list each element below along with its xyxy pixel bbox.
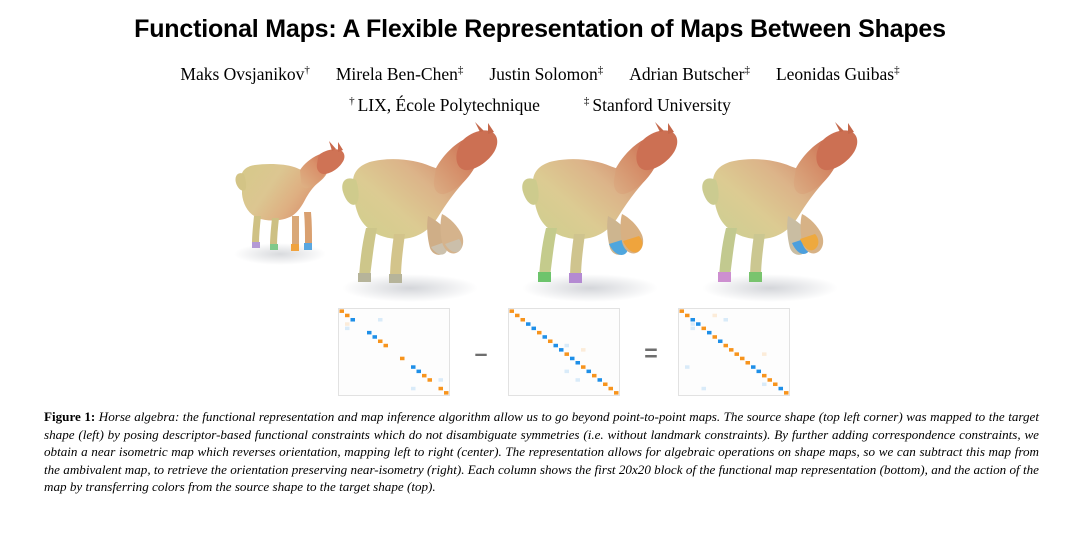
matrix-cell — [439, 378, 444, 382]
affiliation-name: Stanford University — [592, 95, 731, 115]
matrix-cell — [581, 365, 586, 369]
matrix-cell — [564, 370, 569, 374]
author-name: Justin Solomon — [489, 64, 597, 84]
author-affiliation-mark: ‡ — [744, 64, 750, 76]
matrix-cell — [729, 348, 734, 352]
author-2: Mirela Ben-Chen‡ — [336, 63, 463, 85]
minus-operator: – — [468, 346, 494, 360]
matrix-cell — [521, 318, 526, 322]
author-name: Mirela Ben-Chen — [336, 64, 458, 84]
matrix-cell — [762, 352, 767, 356]
matrix-cell — [691, 322, 696, 326]
matrix-cell — [576, 361, 581, 365]
matrix-right-grid — [679, 309, 789, 395]
matrix-cell — [685, 314, 690, 318]
matrix-cell — [428, 378, 433, 382]
matrix-cell — [515, 314, 520, 318]
author-affiliation-mark: † — [304, 64, 310, 76]
affiliation-name: LIX, École Polytechnique — [358, 95, 540, 115]
matrix-cell — [598, 378, 603, 382]
author-name: Maks Ovsjanikov — [180, 64, 304, 84]
author-affiliation-mark: ‡ — [598, 64, 604, 76]
matrix-cell — [367, 331, 372, 335]
matrix-cell — [587, 370, 592, 374]
target-shape-left-render — [332, 122, 517, 307]
matrix-cell — [345, 327, 350, 331]
matrix-cell — [691, 327, 696, 331]
matrix-cell — [559, 348, 564, 352]
figure-caption-label: Figure 1: — [44, 409, 95, 424]
figure-caption-text: Horse algebra: the functional representa… — [44, 409, 1039, 494]
figure-caption: Figure 1: Horse algebra: the functional … — [44, 408, 1039, 496]
figure-1: – = — [0, 122, 1080, 407]
affiliation-mark: ‡ — [584, 95, 590, 107]
matrix-cell — [723, 344, 728, 348]
matrix-cell — [372, 335, 377, 339]
equals-operator: = — [638, 346, 664, 360]
matrix-cell — [702, 327, 707, 331]
matrix-cell — [680, 309, 685, 313]
target-shape-center-render — [512, 122, 697, 307]
matrix-cell — [603, 382, 608, 386]
matrix-cell — [411, 365, 416, 369]
matrix-cell — [570, 357, 575, 361]
matrix-cell — [564, 344, 569, 348]
matrix-cell — [779, 387, 784, 391]
target-shape-left — [332, 122, 517, 307]
author-3: Justin Solomon‡ — [489, 63, 603, 85]
shape-rendering-row — [0, 122, 1080, 307]
matrix-cell — [564, 352, 569, 356]
matrix-cell — [685, 365, 690, 369]
matrix-cell — [762, 382, 767, 386]
matrix-cell — [444, 391, 449, 395]
matrix-left — [338, 308, 450, 396]
author-5: Leonidas Guibas‡ — [776, 63, 900, 85]
matrix-cell — [784, 391, 789, 395]
matrix-center — [508, 308, 620, 396]
matrix-cell — [548, 339, 553, 343]
author-4: Adrian Butscher‡ — [629, 63, 750, 85]
matrix-cell — [383, 344, 388, 348]
author-affiliation-mark: ‡ — [894, 64, 900, 76]
matrix-center-grid — [509, 309, 619, 395]
matrix-cell — [345, 322, 350, 326]
matrix-cell — [691, 318, 696, 322]
author-name: Adrian Butscher — [629, 64, 744, 84]
matrix-cell — [592, 374, 597, 378]
matrix-cell — [581, 348, 586, 352]
matrix-right — [678, 308, 790, 396]
target-shape-center — [512, 122, 697, 307]
matrix-cell — [740, 357, 745, 361]
matrix-cell — [718, 339, 723, 343]
matrix-cell — [746, 361, 751, 365]
functional-map-matrix-row: – = — [0, 308, 1080, 408]
paper-page: Functional Maps: A Flexible Representati… — [0, 0, 1080, 559]
affiliation-2: ‡Stanford University — [584, 94, 731, 116]
matrix-cell — [696, 322, 701, 326]
matrix-left-grid — [339, 309, 449, 395]
matrix-cell — [345, 314, 350, 318]
matrix-cell — [422, 374, 427, 378]
affiliation-1: †LIX, École Polytechnique — [349, 94, 540, 116]
matrix-cell — [773, 382, 778, 386]
author-1: Maks Ovsjanikov† — [180, 63, 309, 85]
matrix-cell — [702, 387, 707, 391]
matrix-cell — [576, 378, 581, 382]
author-name: Leonidas Guibas — [776, 64, 894, 84]
page-title: Functional Maps: A Flexible Representati… — [0, 14, 1080, 44]
matrix-cell — [537, 331, 542, 335]
matrix-cell — [609, 387, 614, 391]
matrix-cell — [378, 339, 383, 343]
matrix-cell — [614, 391, 619, 395]
matrix-cell — [378, 318, 383, 322]
matrix-cell — [734, 352, 739, 356]
matrix-cell — [417, 370, 422, 374]
affiliation-list: †LIX, École Polytechnique‡Stanford Unive… — [0, 94, 1080, 116]
matrix-cell — [439, 387, 444, 391]
matrix-cell — [768, 378, 773, 382]
matrix-cell — [400, 357, 405, 361]
matrix-cell — [751, 365, 756, 369]
matrix-cell — [532, 327, 537, 331]
matrix-cell — [340, 309, 345, 313]
matrix-cell — [553, 344, 558, 348]
matrix-cell — [712, 335, 717, 339]
matrix-cell — [712, 314, 717, 318]
matrix-cell — [707, 331, 712, 335]
author-list: Maks Ovsjanikov†Mirela Ben-Chen‡Justin S… — [0, 63, 1080, 85]
target-shape-right — [692, 122, 877, 307]
matrix-cell — [542, 335, 547, 339]
matrix-cell — [762, 374, 767, 378]
author-affiliation-mark: ‡ — [458, 64, 464, 76]
matrix-cell — [351, 318, 356, 322]
affiliation-mark: † — [349, 95, 355, 107]
matrix-cell — [526, 322, 531, 326]
target-shape-right-render — [692, 122, 877, 307]
matrix-cell — [411, 387, 416, 391]
matrix-cell — [757, 370, 762, 374]
matrix-cell — [510, 309, 515, 313]
matrix-cell — [723, 318, 728, 322]
